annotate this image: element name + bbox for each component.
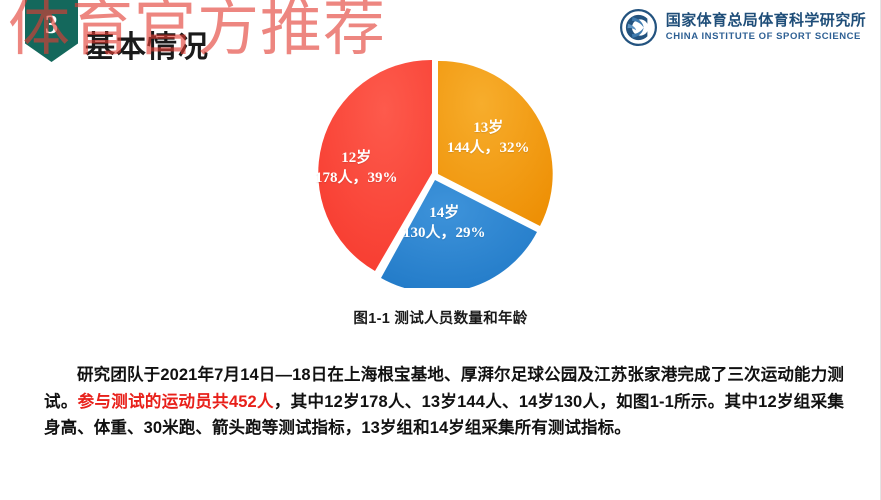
organization-name-cn: 国家体育总局体育科学研究所 [666,13,866,30]
section-number-label: 3 [25,10,78,40]
body-paragraph: 研究团队于2021年7月14日—18日在上海根宝基地、厚湃尔足球公园及江苏张家港… [44,362,844,442]
pie-chart: 13岁 144人，32% 12岁 178人，39% 14岁 130人，29% [305,56,567,288]
figure-caption: 图1-1 测试人员数量和年龄 [0,307,881,328]
pie-label-14-age: 14岁 [403,204,486,224]
page-title: 基本情况 [85,22,209,66]
pie-label-13-value: 144人，32% [447,139,530,159]
organization-name-en: CHINA INSTITUTE OF SPORT SCIENCE [666,32,866,43]
section-number-badge: 3 [25,0,78,62]
pie-label-12: 12岁 178人，39% [315,149,398,189]
pie-label-12-value: 178人，39% [315,169,398,189]
sport-science-emblem-icon [620,9,657,46]
slide-canvas: 3 基本情况 体育官方推荐 国家体育总局体育科学研究所 CHINA INSTIT… [0,0,881,500]
pie-label-13-age: 13岁 [447,119,530,139]
organization-name-block: 国家体育总局体育科学研究所 CHINA INSTITUTE OF SPORT S… [666,13,866,42]
pie-label-12-age: 12岁 [315,149,398,169]
pie-label-13: 13岁 144人，32% [447,119,530,159]
pie-label-14-value: 130人，29% [403,224,486,244]
pie-label-14: 14岁 130人，29% [403,204,486,244]
body-text-highlight: 参与测试的运动员共452人 [78,393,274,411]
organization-logo: 国家体育总局体育科学研究所 CHINA INSTITUTE OF SPORT S… [620,9,866,46]
